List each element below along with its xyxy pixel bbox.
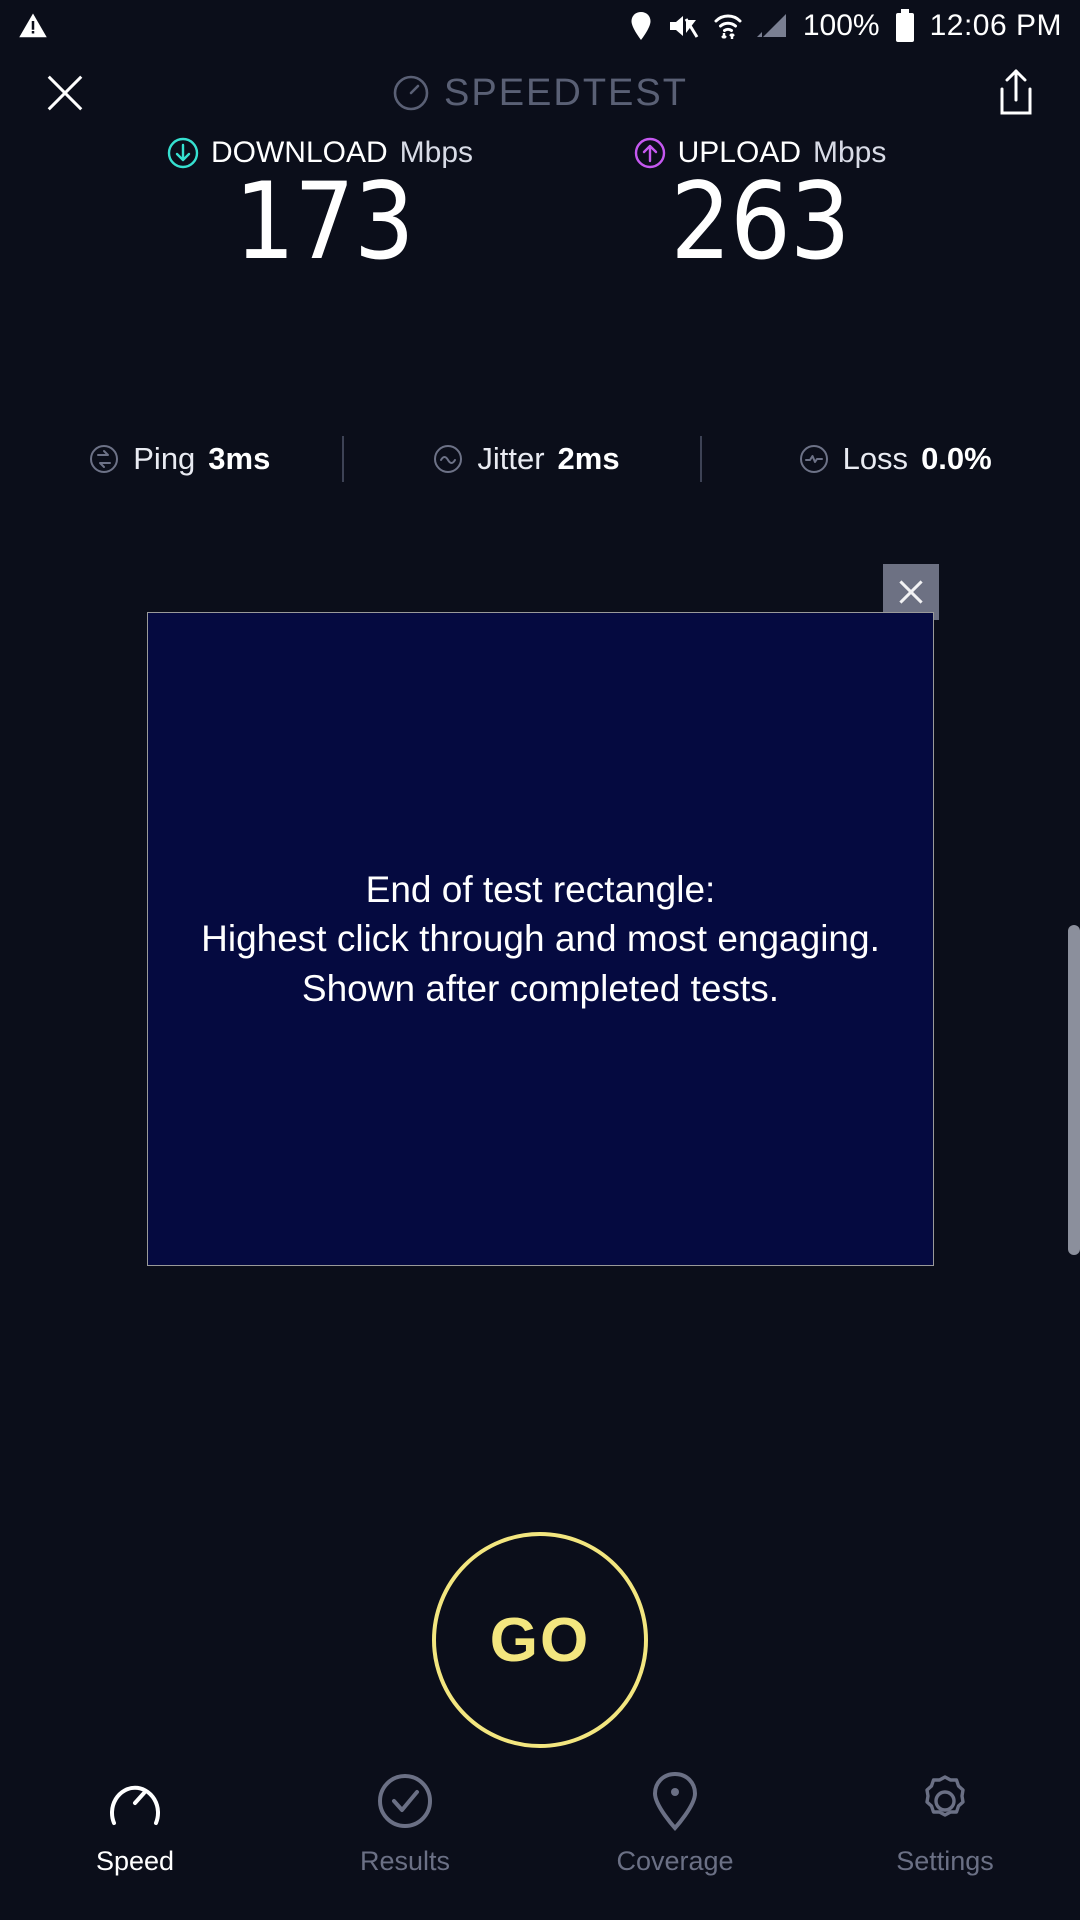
status-bar-clock: 12:06 PM: [930, 9, 1062, 43]
app-header: SPEEDTEST: [0, 55, 1080, 131]
nav-label-results: Results: [360, 1846, 450, 1877]
nav-item-coverage[interactable]: Coverage: [540, 1770, 810, 1877]
wifi-icon: [713, 11, 743, 41]
go-button-label: GO: [490, 1605, 590, 1676]
nav-item-settings[interactable]: Settings: [810, 1770, 1080, 1877]
jitter-label: Jitter: [477, 441, 544, 477]
map-pin-icon: [650, 1770, 700, 1832]
ad-text-line-3: Shown after completed tests.: [201, 964, 880, 1013]
app-brand: SPEEDTEST: [0, 72, 1080, 115]
ping-value: 3ms: [208, 441, 270, 477]
page-title: SPEEDTEST: [444, 72, 688, 115]
loss-label: Loss: [843, 441, 908, 477]
battery-full-icon: [894, 9, 916, 43]
ad-text: End of test rectangle: Highest click thr…: [185, 865, 896, 1013]
check-circle-icon: [376, 1770, 434, 1832]
metric-divider-2: [700, 436, 702, 482]
speedometer-icon: [392, 74, 430, 112]
ping-label: Ping: [133, 441, 195, 477]
download-value: 173: [235, 168, 414, 276]
go-button[interactable]: GO: [432, 1532, 648, 1748]
location-pin-icon: [629, 11, 653, 41]
upload-arrow-icon: [634, 137, 666, 169]
download-arrow-icon: [167, 137, 199, 169]
volume-muted-icon: [667, 11, 699, 41]
speedometer-icon: [106, 1770, 164, 1832]
metric-divider: [342, 436, 344, 482]
download-result: DOWNLOAD Mbps 173: [155, 136, 485, 276]
gear-icon: [915, 1770, 975, 1832]
status-bar-right: 100% 12:06 PM: [629, 9, 1062, 43]
status-bar: 100% 12:06 PM: [0, 0, 1080, 52]
bottom-navigation: Speed Results Coverage: [0, 1754, 1080, 1920]
warning-triangle-icon: [18, 11, 48, 41]
metric-jitter: Jitter 2ms: [432, 441, 619, 477]
speedtest-app-screen: 100% 12:06 PM SPEEDTEST: [0, 0, 1080, 1920]
nav-item-results[interactable]: Results: [270, 1770, 540, 1877]
nav-label-speed: Speed: [96, 1846, 174, 1877]
upload-result: UPLOAD Mbps 263: [595, 136, 925, 276]
loss-value: 0.0%: [921, 441, 992, 477]
results-summary: DOWNLOAD Mbps 173 UPLOAD Mbps 263: [0, 136, 1080, 276]
scrollbar-thumb[interactable]: [1068, 925, 1080, 1255]
metrics-row: Ping 3ms Jitter 2ms: [0, 436, 1080, 482]
ad-text-line-2: Highest click through and most engaging.: [201, 914, 880, 963]
ad-banner[interactable]: End of test rectangle: Highest click thr…: [147, 612, 934, 1266]
close-icon[interactable]: [42, 70, 88, 116]
battery-percent-label: 100%: [803, 9, 880, 43]
upload-value: 263: [671, 168, 850, 276]
cellular-signal-icon: [757, 11, 789, 41]
nav-label-settings: Settings: [896, 1846, 994, 1877]
jitter-icon: [432, 443, 464, 475]
ad-text-line-1: End of test rectangle:: [201, 865, 880, 914]
jitter-value: 2ms: [558, 441, 620, 477]
status-bar-left: [18, 11, 48, 41]
ping-icon: [88, 443, 120, 475]
metric-loss: Loss 0.0%: [798, 441, 992, 477]
share-icon[interactable]: [994, 67, 1038, 119]
results-row: DOWNLOAD Mbps 173 UPLOAD Mbps 263: [0, 136, 1080, 276]
loss-icon: [798, 443, 830, 475]
nav-label-coverage: Coverage: [616, 1846, 733, 1877]
nav-item-speed[interactable]: Speed: [0, 1770, 270, 1877]
metric-ping: Ping 3ms: [88, 441, 270, 477]
